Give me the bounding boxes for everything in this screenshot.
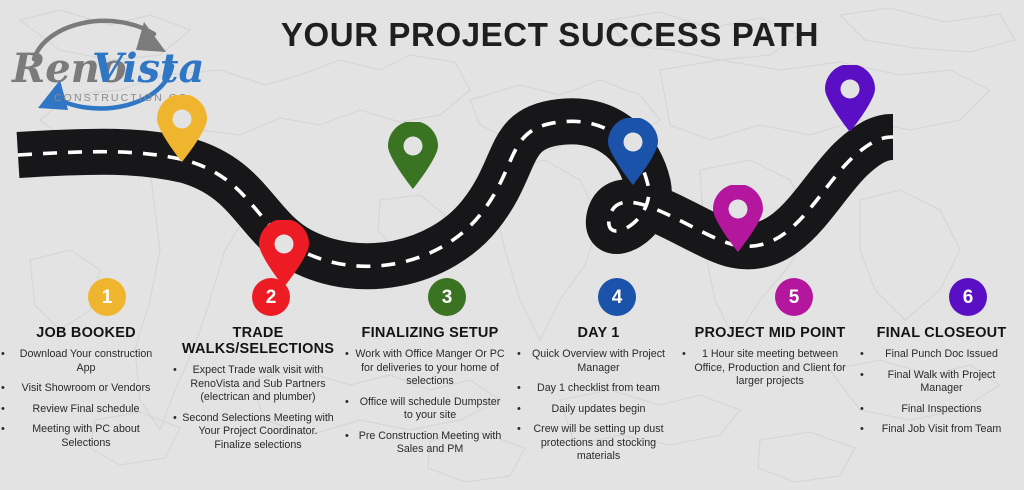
list-item: Work with Office Manger Or PC for delive…: [350, 348, 510, 388]
step-column-2: 2 TRADE WALKS/SELECTIONS Expect Trade wa…: [172, 278, 344, 490]
step-title-1: JOB BOOKED: [6, 325, 166, 341]
step-number-4: 4: [612, 288, 623, 307]
steps-row: 1 JOB BOOKED Download Your construction …: [0, 278, 1024, 490]
list-item: Crew will be setting up dust protections…: [522, 423, 675, 463]
list-item: Second Selections Meeting with Your Proj…: [178, 412, 338, 452]
list-item: Expect Trade walk visit with RenoVista a…: [178, 364, 338, 404]
step-title-6: FINAL CLOSEOUT: [865, 325, 1018, 341]
step-number-2: 2: [266, 288, 277, 307]
step-list-6: Final Punch Doc Issued Final Walk with P…: [865, 348, 1018, 436]
step-column-6: 6 FINAL CLOSEOUT Final Punch Doc Issued …: [859, 278, 1024, 490]
step-column-1: 1 JOB BOOKED Download Your construction …: [0, 278, 172, 490]
step-column-5: 5 PROJECT MID POINT 1 Hour site meeting …: [681, 278, 859, 490]
step-number-1: 1: [102, 288, 113, 307]
step-badge-4[interactable]: 4: [598, 278, 636, 316]
step-list-2: Expect Trade walk visit with RenoVista a…: [178, 364, 338, 452]
list-item: Review Final schedule: [6, 403, 166, 416]
step-list-4: Quick Overview with Project Manager Day …: [522, 348, 675, 463]
step-badge-2[interactable]: 2: [252, 278, 290, 316]
map-pin-step-3[interactable]: [386, 122, 440, 190]
list-item: Meeting with PC about Selections: [6, 423, 166, 450]
step-number-3: 3: [442, 288, 453, 307]
list-item: Final Job Visit from Team: [865, 423, 1018, 436]
step-title-3: FINALIZING SETUP: [350, 325, 510, 341]
step-column-3: 3 FINALIZING SETUP Work with Office Mang…: [344, 278, 516, 490]
step-badge-6[interactable]: 6: [949, 278, 987, 316]
step-list-1: Download Your construction App Visit Sho…: [6, 348, 166, 450]
step-title-2: TRADE WALKS/SELECTIONS: [178, 325, 338, 357]
infographic-canvas: Reno Vista CONSTRUCTION CO. YOUR PROJECT…: [0, 0, 1024, 490]
map-pin-step-5[interactable]: [711, 185, 765, 253]
list-item: Visit Showroom or Vendors: [6, 382, 166, 395]
step-column-4: 4 DAY 1 Quick Overview with Project Mana…: [516, 278, 681, 490]
step-badge-5[interactable]: 5: [775, 278, 813, 316]
road-path: [0, 0, 1024, 300]
step-badge-3[interactable]: 3: [428, 278, 466, 316]
list-item: Final Inspections: [865, 403, 1018, 416]
list-item: Daily updates begin: [522, 403, 675, 416]
step-badge-1[interactable]: 1: [88, 278, 126, 316]
step-title-5: PROJECT MID POINT: [687, 325, 853, 341]
list-item: Quick Overview with Project Manager: [522, 348, 675, 375]
step-number-6: 6: [963, 288, 974, 307]
list-item: Office will schedule Dumpster to your si…: [350, 396, 510, 423]
list-item: Final Punch Doc Issued: [865, 348, 1018, 361]
map-pin-step-4[interactable]: [606, 118, 660, 186]
list-item: Final Walk with Project Manager: [865, 369, 1018, 396]
list-item: Download Your construction App: [6, 348, 166, 375]
map-pin-step-1[interactable]: [155, 95, 209, 163]
list-item: 1 Hour site meeting between Office, Prod…: [687, 348, 853, 388]
step-list-3: Work with Office Manger Or PC for delive…: [350, 348, 510, 456]
step-list-5: 1 Hour site meeting between Office, Prod…: [687, 348, 853, 388]
map-pin-step-6[interactable]: [823, 65, 877, 133]
list-item: Pre Construction Meeting with Sales and …: [350, 430, 510, 457]
step-number-5: 5: [789, 288, 800, 307]
list-item: Day 1 checklist from team: [522, 382, 675, 395]
step-title-4: DAY 1: [522, 325, 675, 341]
